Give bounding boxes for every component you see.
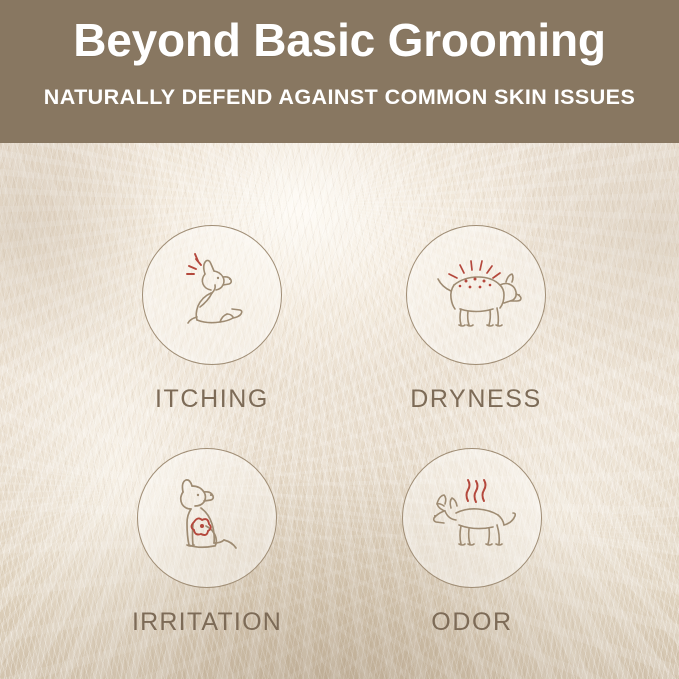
dog-scratching-icon xyxy=(160,243,264,347)
feature-dryness: DRYNESS xyxy=(366,225,586,414)
dog-irritated-patch-icon xyxy=(153,464,261,572)
feature-label-dryness: DRYNESS xyxy=(410,385,542,414)
feature-label-odor: ODOR xyxy=(431,608,512,637)
flakes-burst-mark xyxy=(449,261,500,278)
feature-grid: ITCHING xyxy=(0,143,679,679)
banner-subtitle: NATURALLY DEFEND AGAINST COMMON SKIN ISS… xyxy=(44,85,636,110)
header-banner: Beyond Basic Grooming NATURALLY DEFEND A… xyxy=(0,0,679,143)
dog-odor-icon xyxy=(415,461,529,575)
feature-itching: ITCHING xyxy=(102,225,322,414)
feature-icon-circle-dryness xyxy=(406,225,546,365)
feature-icon-circle-irritation xyxy=(137,448,277,588)
feature-label-irritation: IRRITATION xyxy=(132,608,282,637)
odor-waves-mark xyxy=(467,480,486,502)
scratch-burst-mark xyxy=(187,254,201,274)
feature-label-itching: ITCHING xyxy=(155,385,269,414)
feature-odor: ODOR xyxy=(362,448,582,637)
banner-title: Beyond Basic Grooming xyxy=(73,17,606,63)
dog-flaky-skin-icon xyxy=(420,239,532,351)
feature-irritation: IRRITATION xyxy=(97,448,317,637)
product-infographic: Beyond Basic Grooming NATURALLY DEFEND A… xyxy=(0,0,679,679)
feature-icon-circle-odor xyxy=(402,448,542,588)
feature-icon-circle-itching xyxy=(142,225,282,365)
